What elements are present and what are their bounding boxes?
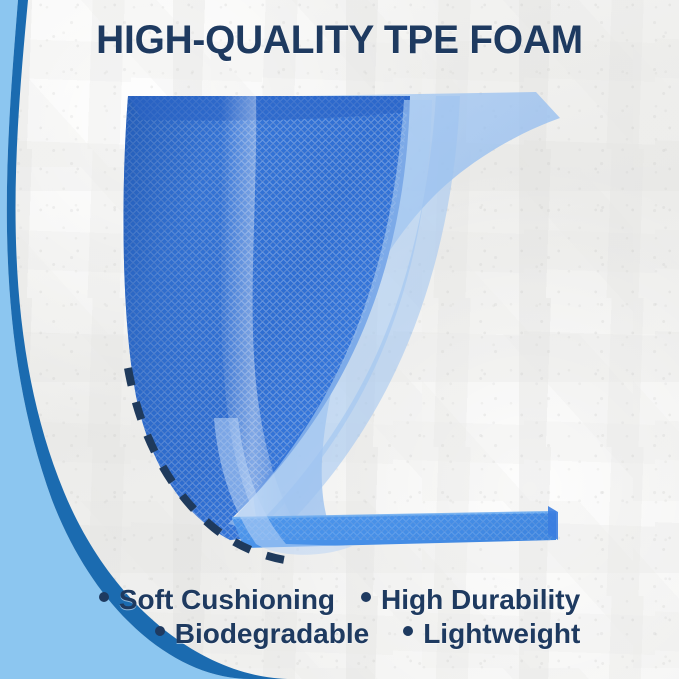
page-title: HIGH-QUALITY TPE FOAM bbox=[10, 18, 669, 63]
bullet-dot-icon bbox=[361, 592, 371, 602]
feature-lightweight: Lightweight bbox=[403, 617, 580, 651]
bullet-dot-icon bbox=[403, 626, 413, 636]
feature-label: Lightweight bbox=[423, 617, 580, 651]
feature-label: High Durability bbox=[381, 583, 580, 617]
feature-biodegradable: Biodegradable bbox=[155, 617, 369, 651]
feature-row-2: Biodegradable Lightweight bbox=[0, 617, 679, 651]
product-feature-poster: HIGH-QUALITY TPE FOAM bbox=[0, 0, 679, 679]
feature-row-1: Soft Cushioning High Durability bbox=[0, 583, 679, 617]
feature-label: Soft Cushioning bbox=[119, 583, 335, 617]
bullet-dot-icon bbox=[155, 626, 165, 636]
bullet-dot-icon bbox=[99, 592, 109, 602]
feature-label: Biodegradable bbox=[175, 617, 369, 651]
feature-high-durability: High Durability bbox=[361, 583, 580, 617]
feature-soft-cushioning: Soft Cushioning bbox=[99, 583, 335, 617]
background-speckle bbox=[0, 0, 679, 679]
feature-list: Soft Cushioning High Durability Biodegra… bbox=[0, 583, 679, 651]
